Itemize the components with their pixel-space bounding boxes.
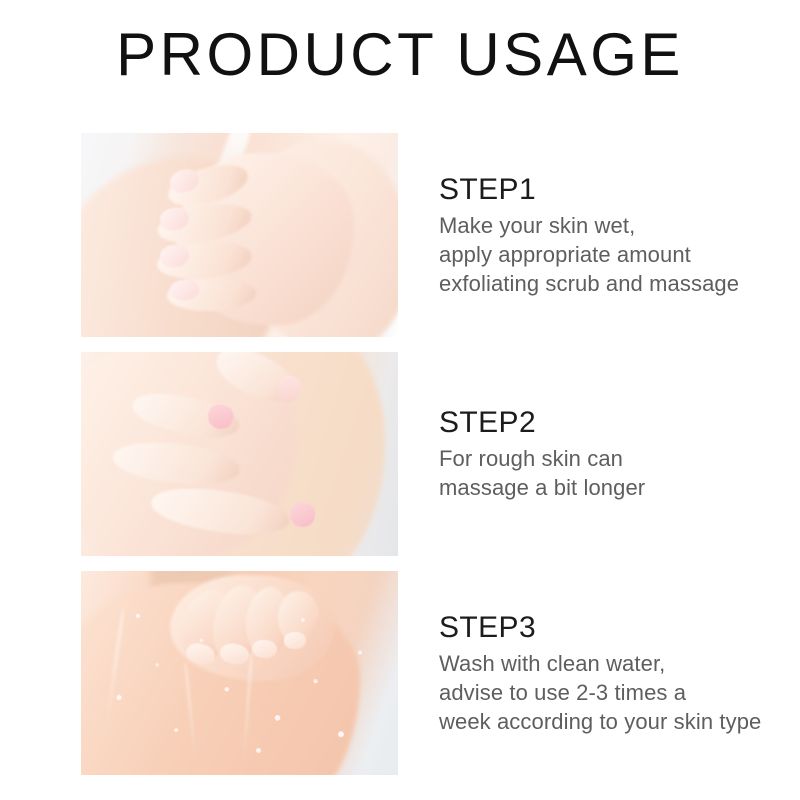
step-description-line: massage a bit longer — [439, 473, 761, 502]
step-text-3: STEP3 Wash with clean water, advise to u… — [398, 611, 761, 736]
step-description-line: week according to your skin type — [439, 707, 761, 736]
step-description-line: Wash with clean water, — [439, 649, 761, 678]
step-description-line: apply appropriate amount — [439, 240, 761, 269]
step-label: STEP1 — [439, 173, 761, 207]
step-row: STEP3 Wash with clean water, advise to u… — [81, 571, 761, 775]
steps-list: STEP1 Make your skin wet, apply appropri… — [81, 133, 761, 775]
step-label: STEP3 — [439, 611, 761, 645]
step-text-2: STEP2 For rough skin can massage a bit l… — [398, 406, 761, 502]
photo-rinsing-shoulder — [81, 571, 398, 775]
step-row: STEP2 For rough skin can massage a bit l… — [81, 352, 761, 556]
step-photo-2 — [81, 352, 398, 556]
page-title: PRODUCT USAGE — [0, 22, 800, 88]
photo-shape-nail — [169, 279, 198, 300]
step-row: STEP1 Make your skin wet, apply appropri… — [81, 133, 761, 337]
photo-shape-water-droplets — [81, 571, 398, 775]
step-description-line: advise to use 2-3 times a — [439, 678, 761, 707]
product-usage-page: PRODUCT USAGE — [0, 0, 800, 800]
step-label: STEP2 — [439, 406, 761, 440]
step-description-line: exfoliating scrub and massage — [439, 269, 761, 298]
step-photo-3 — [81, 571, 398, 775]
photo-scrub-on-shoulder — [81, 133, 398, 337]
step-description-line: For rough skin can — [439, 444, 761, 473]
step-description-line: Make your skin wet, — [439, 211, 761, 240]
photo-massage-leg — [81, 352, 398, 556]
step-text-1: STEP1 Make your skin wet, apply appropri… — [398, 173, 761, 298]
step-photo-1 — [81, 133, 398, 337]
